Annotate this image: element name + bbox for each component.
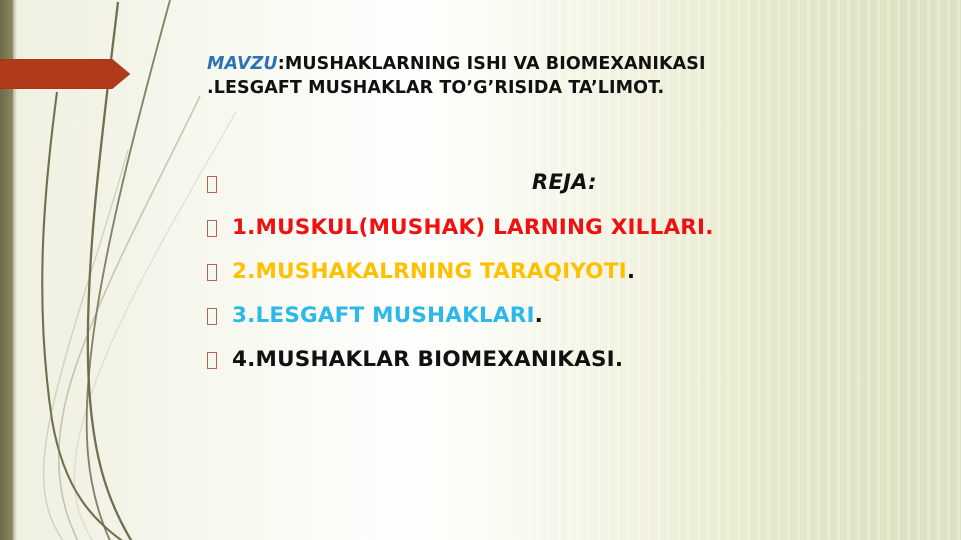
title-rest: :MUSHAKLARNING ISHI VA BIOMEXANIKASI .LE… — [207, 54, 706, 98]
agenda-item-3-period: . — [535, 303, 543, 328]
bullet-marker-icon — [207, 220, 217, 237]
presentation-slide: MAVZU:MUSHAKLARNING ISHI VA BIOMEXANIKAS… — [0, 0, 961, 540]
title-highlight: MAVZU — [207, 54, 278, 74]
agenda-item-1-text: 1.MUSKUL(MUSHAK) LARNING XILLARI. — [232, 215, 714, 240]
agenda-item-3-text: 3.LESGAFT MUSHAKLARI — [232, 303, 535, 328]
agenda-item-2-text: 2.MUSHAKALRNING TARAQIYOTI — [232, 259, 627, 284]
agenda-item-2-period: . — [627, 259, 635, 284]
list-item: 4.MUSHAKLAR BIOMEXANIKASI. — [207, 346, 907, 390]
list-item: 2.MUSHAKALRNING TARAQIYOTI. — [207, 258, 907, 302]
bullet-marker-icon — [207, 308, 217, 325]
arrow-banner-icon — [0, 59, 130, 89]
agenda-item-4-text: 4.MUSHAKLAR BIOMEXANIKASI. — [232, 347, 623, 372]
list-item: 1.MUSKUL(MUSHAK) LARNING XILLARI. — [207, 214, 907, 258]
list-item: REJA: — [207, 170, 907, 214]
bullet-marker-icon — [207, 264, 217, 281]
agenda-list: REJA: 1.MUSKUL(MUSHAK) LARNING XILLARI. … — [207, 170, 907, 390]
bullet-marker-icon — [207, 176, 217, 193]
agenda-heading: REJA: — [232, 170, 907, 194]
list-item: 3.LESGAFT MUSHAKLARI. — [207, 302, 907, 346]
bullet-marker-icon — [207, 352, 217, 369]
slide-title: MAVZU:MUSHAKLARNING ISHI VA BIOMEXANIKAS… — [207, 53, 767, 100]
